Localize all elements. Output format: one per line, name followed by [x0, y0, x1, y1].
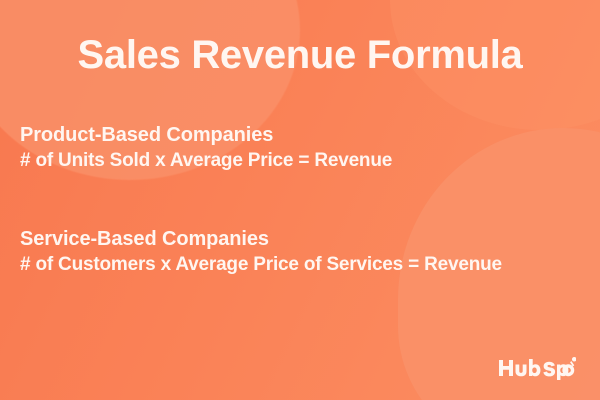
hubspot-sprocket-o [562, 357, 576, 376]
service-section-heading: Service-Based Companies [20, 226, 502, 252]
product-section-formula: # of Units Sold x Average Price = Revenu… [20, 148, 392, 173]
product-section-heading: Product-Based Companies [20, 122, 392, 148]
service-based-section: Service-Based Companies # of Customers x… [20, 226, 502, 277]
page-title: Sales Revenue Formula [0, 32, 600, 78]
slide-content: Sales Revenue Formula Product-Based Comp… [0, 0, 600, 400]
product-based-section: Product-Based Companies # of Units Sold … [20, 122, 392, 173]
service-section-formula: # of Customers x Average Price of Servic… [20, 252, 502, 277]
hubspot-logo-icon [498, 356, 576, 380]
hubspot-logo [498, 354, 576, 380]
slide-canvas: Sales Revenue Formula Product-Based Comp… [0, 0, 600, 400]
